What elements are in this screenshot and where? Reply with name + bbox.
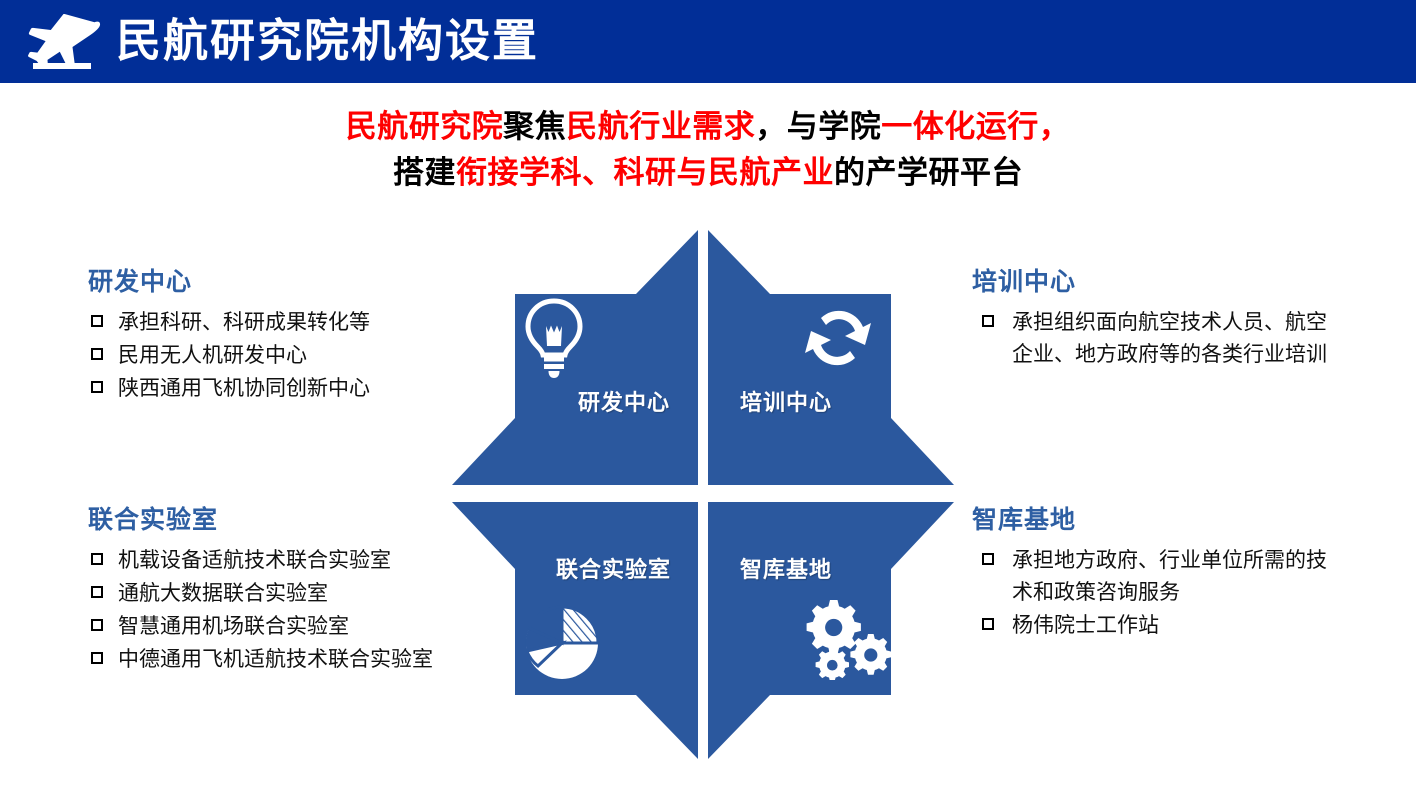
lightbulb-icon	[520, 298, 588, 378]
headline-seg: 衔接学科、科研与民航产业	[456, 155, 834, 191]
quadrant-label-lab: 联合实验室	[556, 552, 671, 584]
list-item: 承担地方政府、行业单位所需的技术和政策咨询服务	[972, 544, 1342, 608]
list-item-label: 机载设备适航技术联合实验室	[118, 548, 391, 572]
square-bullet-icon	[91, 381, 103, 393]
headline-seg: 民航研究院	[346, 109, 504, 145]
headline-seg: 的产学研平台	[834, 155, 1023, 191]
bullet-list-rd: 承担科研、科研成果转化等 民用无人机研发中心 陕西通用飞机协同创新中心	[88, 306, 458, 404]
bullet-list-think: 承担地方政府、行业单位所需的技术和政策咨询服务 杨伟院士工作站	[972, 544, 1342, 641]
section-training: 培训中心 承担组织面向航空技术人员、航空企业、地方政府等的各类行业培训	[972, 262, 1332, 371]
section-rd: 研发中心 承担科研、科研成果转化等 民用无人机研发中心 陕西通用飞机协同创新中心	[88, 262, 458, 405]
section-title-training: 培训中心	[972, 262, 1332, 298]
list-item: 承担科研、科研成果转化等	[88, 306, 458, 338]
quadrant-label-rd: 研发中心	[578, 385, 670, 417]
list-item-label: 承担科研、科研成果转化等	[118, 310, 370, 334]
square-bullet-icon	[91, 553, 103, 565]
list-item-label: 通航大数据联合实验室	[118, 581, 328, 605]
headline-seg: 聚焦	[503, 109, 566, 145]
headline-seg: 一体化运行，	[881, 109, 1070, 145]
headline-seg: ，与学院	[755, 109, 881, 145]
list-item-label: 中德通用飞机适航技术联合实验室	[118, 647, 433, 671]
airplane-takeoff-icon	[28, 14, 104, 72]
section-title-lab: 联合实验室	[88, 500, 488, 536]
section-think: 智库基地 承担地方政府、行业单位所需的技术和政策咨询服务 杨伟院士工作站	[972, 500, 1342, 642]
headline: 民航研究院聚焦民航行业需求，与学院一体化运行， 搭建衔接学科、科研与民航产业的产…	[0, 104, 1416, 196]
list-item-label: 智慧通用机场联合实验室	[118, 614, 349, 638]
header-bar: 民航研究院机构设置	[0, 0, 1416, 83]
list-item-label: 承担组织面向航空技术人员、航空企业、地方政府等的各类行业培训	[1012, 310, 1327, 366]
square-bullet-icon	[982, 315, 994, 327]
square-bullet-icon	[982, 553, 994, 565]
headline-seg: 搭建	[393, 155, 456, 191]
list-item: 通航大数据联合实验室	[88, 577, 488, 609]
list-item: 陕西通用飞机协同创新中心	[88, 372, 458, 404]
square-bullet-icon	[982, 618, 994, 630]
square-bullet-icon	[91, 586, 103, 598]
list-item: 民用无人机研发中心	[88, 339, 458, 371]
gears-icon	[802, 596, 894, 680]
list-item-label: 杨伟院士工作站	[1012, 613, 1159, 637]
list-item: 中德通用飞机适航技术联合实验室	[88, 643, 488, 675]
square-bullet-icon	[91, 315, 103, 327]
refresh-cycle-icon	[795, 298, 881, 378]
center-diagram: 研发中心 培训中心 联合实验室 智库基地	[440, 222, 960, 767]
list-item: 机载设备适航技术联合实验室	[88, 544, 488, 576]
list-item: 承担组织面向航空技术人员、航空企业、地方政府等的各类行业培训	[972, 306, 1332, 370]
list-item-label: 民用无人机研发中心	[118, 343, 307, 367]
quadrant-label-think: 智库基地	[740, 552, 832, 584]
pie-chart-icon	[522, 604, 602, 682]
section-lab: 联合实验室 机载设备适航技术联合实验室 通航大数据联合实验室 智慧通用机场联合实…	[88, 500, 488, 676]
square-bullet-icon	[91, 619, 103, 631]
headline-line-2: 搭建衔接学科、科研与民航产业的产学研平台	[0, 150, 1416, 196]
quadrant-label-training: 培训中心	[740, 385, 832, 417]
list-item-label: 承担地方政府、行业单位所需的技术和政策咨询服务	[1012, 548, 1327, 604]
section-title-think: 智库基地	[972, 500, 1342, 536]
list-item: 智慧通用机场联合实验室	[88, 610, 488, 642]
bullet-list-training: 承担组织面向航空技术人员、航空企业、地方政府等的各类行业培训	[972, 306, 1332, 370]
list-item: 杨伟院士工作站	[972, 609, 1342, 641]
page-title: 民航研究院机构设置	[116, 9, 539, 73]
square-bullet-icon	[91, 348, 103, 360]
section-title-rd: 研发中心	[88, 262, 458, 298]
headline-seg: 民航行业需求	[566, 109, 755, 145]
headline-line-1: 民航研究院聚焦民航行业需求，与学院一体化运行，	[0, 104, 1416, 150]
list-item-label: 陕西通用飞机协同创新中心	[118, 376, 370, 400]
slide-root: 民航研究院机构设置 民航研究院聚焦民航行业需求，与学院一体化运行， 搭建衔接学科…	[0, 0, 1416, 798]
bullet-list-lab: 机载设备适航技术联合实验室 通航大数据联合实验室 智慧通用机场联合实验室 中德通…	[88, 544, 488, 675]
square-bullet-icon	[91, 652, 103, 664]
